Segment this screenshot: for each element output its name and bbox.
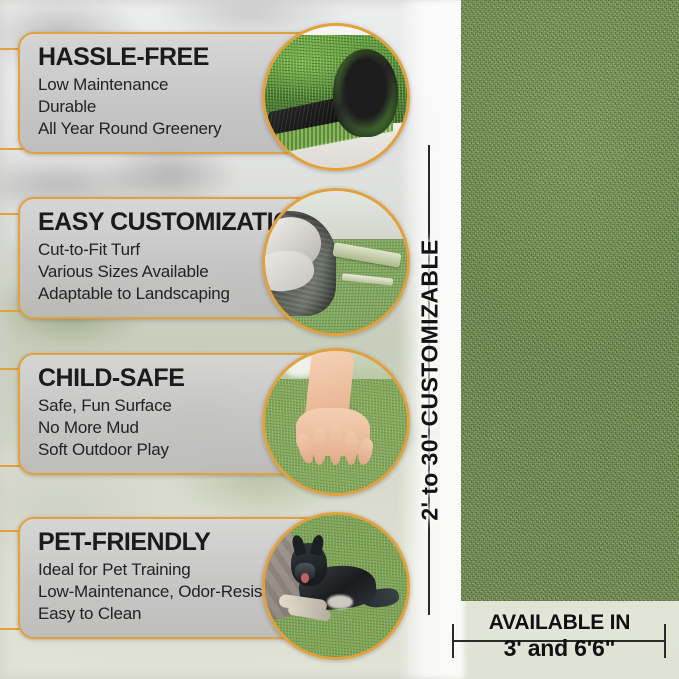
length-dimension-label: 2' to 30' CUSTOMIZABLE — [417, 239, 444, 520]
turf-installation-photo — [262, 188, 410, 336]
turf-sample-strip — [461, 0, 679, 601]
dog-on-turf-photo — [262, 512, 410, 660]
width-label-line1: AVAILABLE IN — [440, 612, 679, 635]
length-dimension-label-wrap: 2' to 30' CUSTOMIZABLE — [402, 150, 458, 610]
width-label-line2: 3' and 6'6" — [440, 636, 679, 661]
product-infographic: HASSLE-FREE Low Maintenance Durable All … — [0, 0, 679, 679]
turf-roll-photo — [262, 23, 410, 171]
child-hand-on-turf-photo — [262, 348, 410, 496]
width-dimension-label: AVAILABLE IN 3' and 6'6" — [440, 612, 679, 661]
